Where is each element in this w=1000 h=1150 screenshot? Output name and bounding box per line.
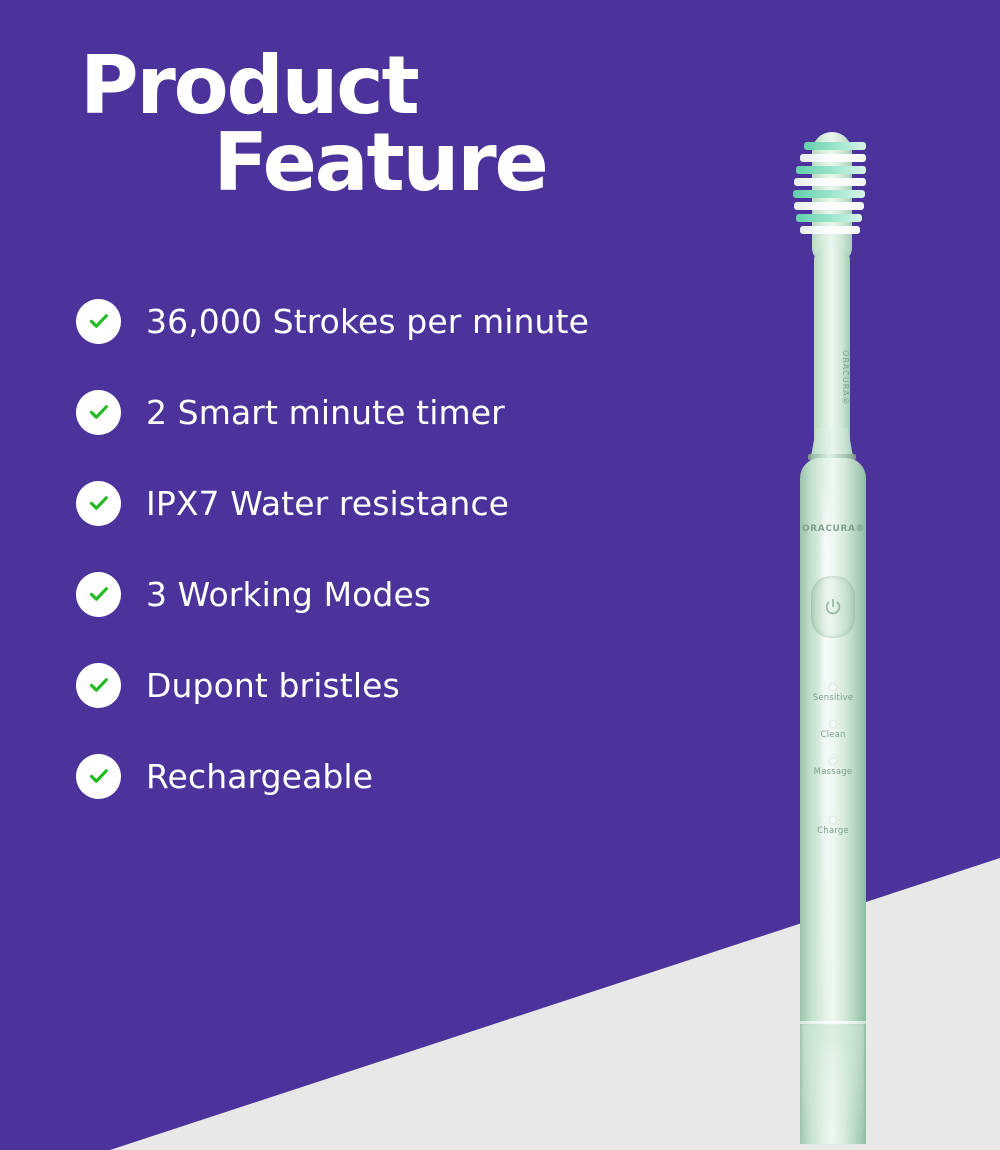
- check-icon: [76, 572, 121, 617]
- check-icon: [76, 754, 121, 799]
- brush-bristles: [790, 140, 882, 236]
- list-item: Rechargeable: [76, 753, 736, 799]
- bristle-tuft: [804, 142, 866, 150]
- bristle-tuft: [796, 166, 866, 174]
- product-reflection: [802, 1024, 864, 1150]
- list-item: 2 Smart minute timer: [76, 389, 736, 435]
- bristle-tuft: [796, 214, 862, 222]
- body-brand-label: ORACURA®: [802, 524, 864, 534]
- list-item-label: Dupont bristles: [146, 669, 400, 702]
- product-image-electric-toothbrush: ORACURA® ORACURA® Sensitive: [776, 128, 906, 1138]
- list-item-label: 3 Working Modes: [146, 578, 431, 611]
- product-feature-poster: Product Feature 36,000 Strokes per minut…: [0, 0, 1000, 1150]
- mode-indicator-sensitive: Sensitive: [800, 684, 866, 721]
- check-icon: [76, 663, 121, 708]
- page-title-line-2: Feature: [80, 125, 640, 202]
- bristle-tuft: [794, 202, 864, 210]
- check-icon: [76, 481, 121, 526]
- list-item-label: 36,000 Strokes per minute: [146, 305, 589, 338]
- led-indicator-icon: [830, 758, 836, 764]
- mode-label: Charge: [800, 827, 866, 836]
- page-title-line-1: Product: [80, 48, 640, 125]
- list-item: IPX7 Water resistance: [76, 480, 736, 526]
- list-item: 3 Working Modes: [76, 571, 736, 617]
- bristle-tuft: [793, 190, 865, 198]
- led-indicator-icon: [830, 684, 836, 690]
- led-indicator-icon: [830, 817, 836, 823]
- bristle-tuft: [800, 226, 860, 234]
- mode-indicator-clean: Clean: [800, 721, 866, 758]
- list-item: 36,000 Strokes per minute: [76, 298, 736, 344]
- neck-brand-label: ORACURA®: [814, 350, 850, 407]
- list-item: Dupont bristles: [76, 662, 736, 708]
- list-item-label: Rechargeable: [146, 760, 373, 793]
- power-icon: [823, 597, 843, 617]
- mode-indicator-massage: Massage: [800, 758, 866, 795]
- mode-indicator-list: Sensitive Clean Massage Charge: [800, 684, 866, 854]
- check-icon: [76, 390, 121, 435]
- led-indicator-icon: [830, 721, 836, 727]
- feature-list: 36,000 Strokes per minute 2 Smart minute…: [76, 298, 736, 844]
- mode-indicator-charge: Charge: [800, 817, 866, 854]
- list-item-label: IPX7 Water resistance: [146, 487, 509, 520]
- bristle-tuft: [794, 178, 866, 186]
- mode-label: Sensitive: [800, 694, 866, 703]
- mode-label: Clean: [800, 731, 866, 740]
- check-icon: [76, 299, 121, 344]
- mode-label: Massage: [800, 768, 866, 777]
- bristle-tuft: [800, 154, 866, 162]
- list-item-label: 2 Smart minute timer: [146, 396, 505, 429]
- power-button[interactable]: [811, 576, 855, 638]
- page-title: Product Feature: [80, 48, 640, 202]
